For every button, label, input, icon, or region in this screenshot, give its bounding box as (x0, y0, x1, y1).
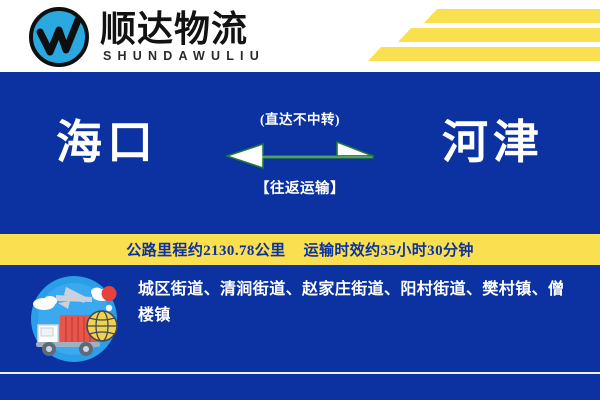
stripe-3 (368, 47, 600, 61)
logistics-route-banner: 顺达物流 SHUNDAWULIU 海口 (直达不中转) 【往返运输】 (0, 0, 600, 400)
destination-city: 河津 (442, 120, 544, 166)
brand-name-cn: 顺达物流 (100, 11, 265, 48)
distance-text: 公路里程约2130.78公里 (126, 239, 285, 260)
service-areas-list: 城区街道、清涧街道、赵家庄街道、阳村街道、樊村镇、僧楼镇 (138, 277, 574, 329)
brand-logo-group: 顺达物流 SHUNDAWULIU (28, 6, 265, 68)
brand-text-block: 顺达物流 SHUNDAWULIU (100, 11, 265, 64)
origin-city: 海口 (56, 120, 158, 166)
decorative-stripes (330, 0, 600, 72)
duration-text: 运输时效约35小时30分钟 (304, 239, 474, 260)
banner-header: 顺达物流 SHUNDAWULIU (0, 0, 600, 72)
stripe-1 (424, 9, 600, 23)
bidirectional-arrow-icon (225, 136, 375, 170)
route-middle-group: (直达不中转) 【往返运输】 (212, 108, 388, 198)
round-trip-note: 【往返运输】 (212, 177, 388, 198)
service-areas-panel: 城区街道、清涧街道、赵家庄街道、阳村街道、樊村镇、僧楼镇 (0, 265, 600, 372)
truck-globe-airplane-icon (22, 273, 126, 365)
stripe-2 (398, 28, 600, 42)
route-info-bar: 公路里程约2130.78公里 运输时效约35小时30分钟 (0, 234, 600, 265)
circular-w-swoosh-logo-icon (28, 6, 90, 68)
route-panel: 海口 (直达不中转) 【往返运输】 河津 (0, 72, 600, 232)
direct-route-note: (直达不中转) (212, 108, 388, 128)
brand-name-en: SHUNDAWULIU (100, 49, 265, 63)
banner-footer (0, 374, 600, 400)
